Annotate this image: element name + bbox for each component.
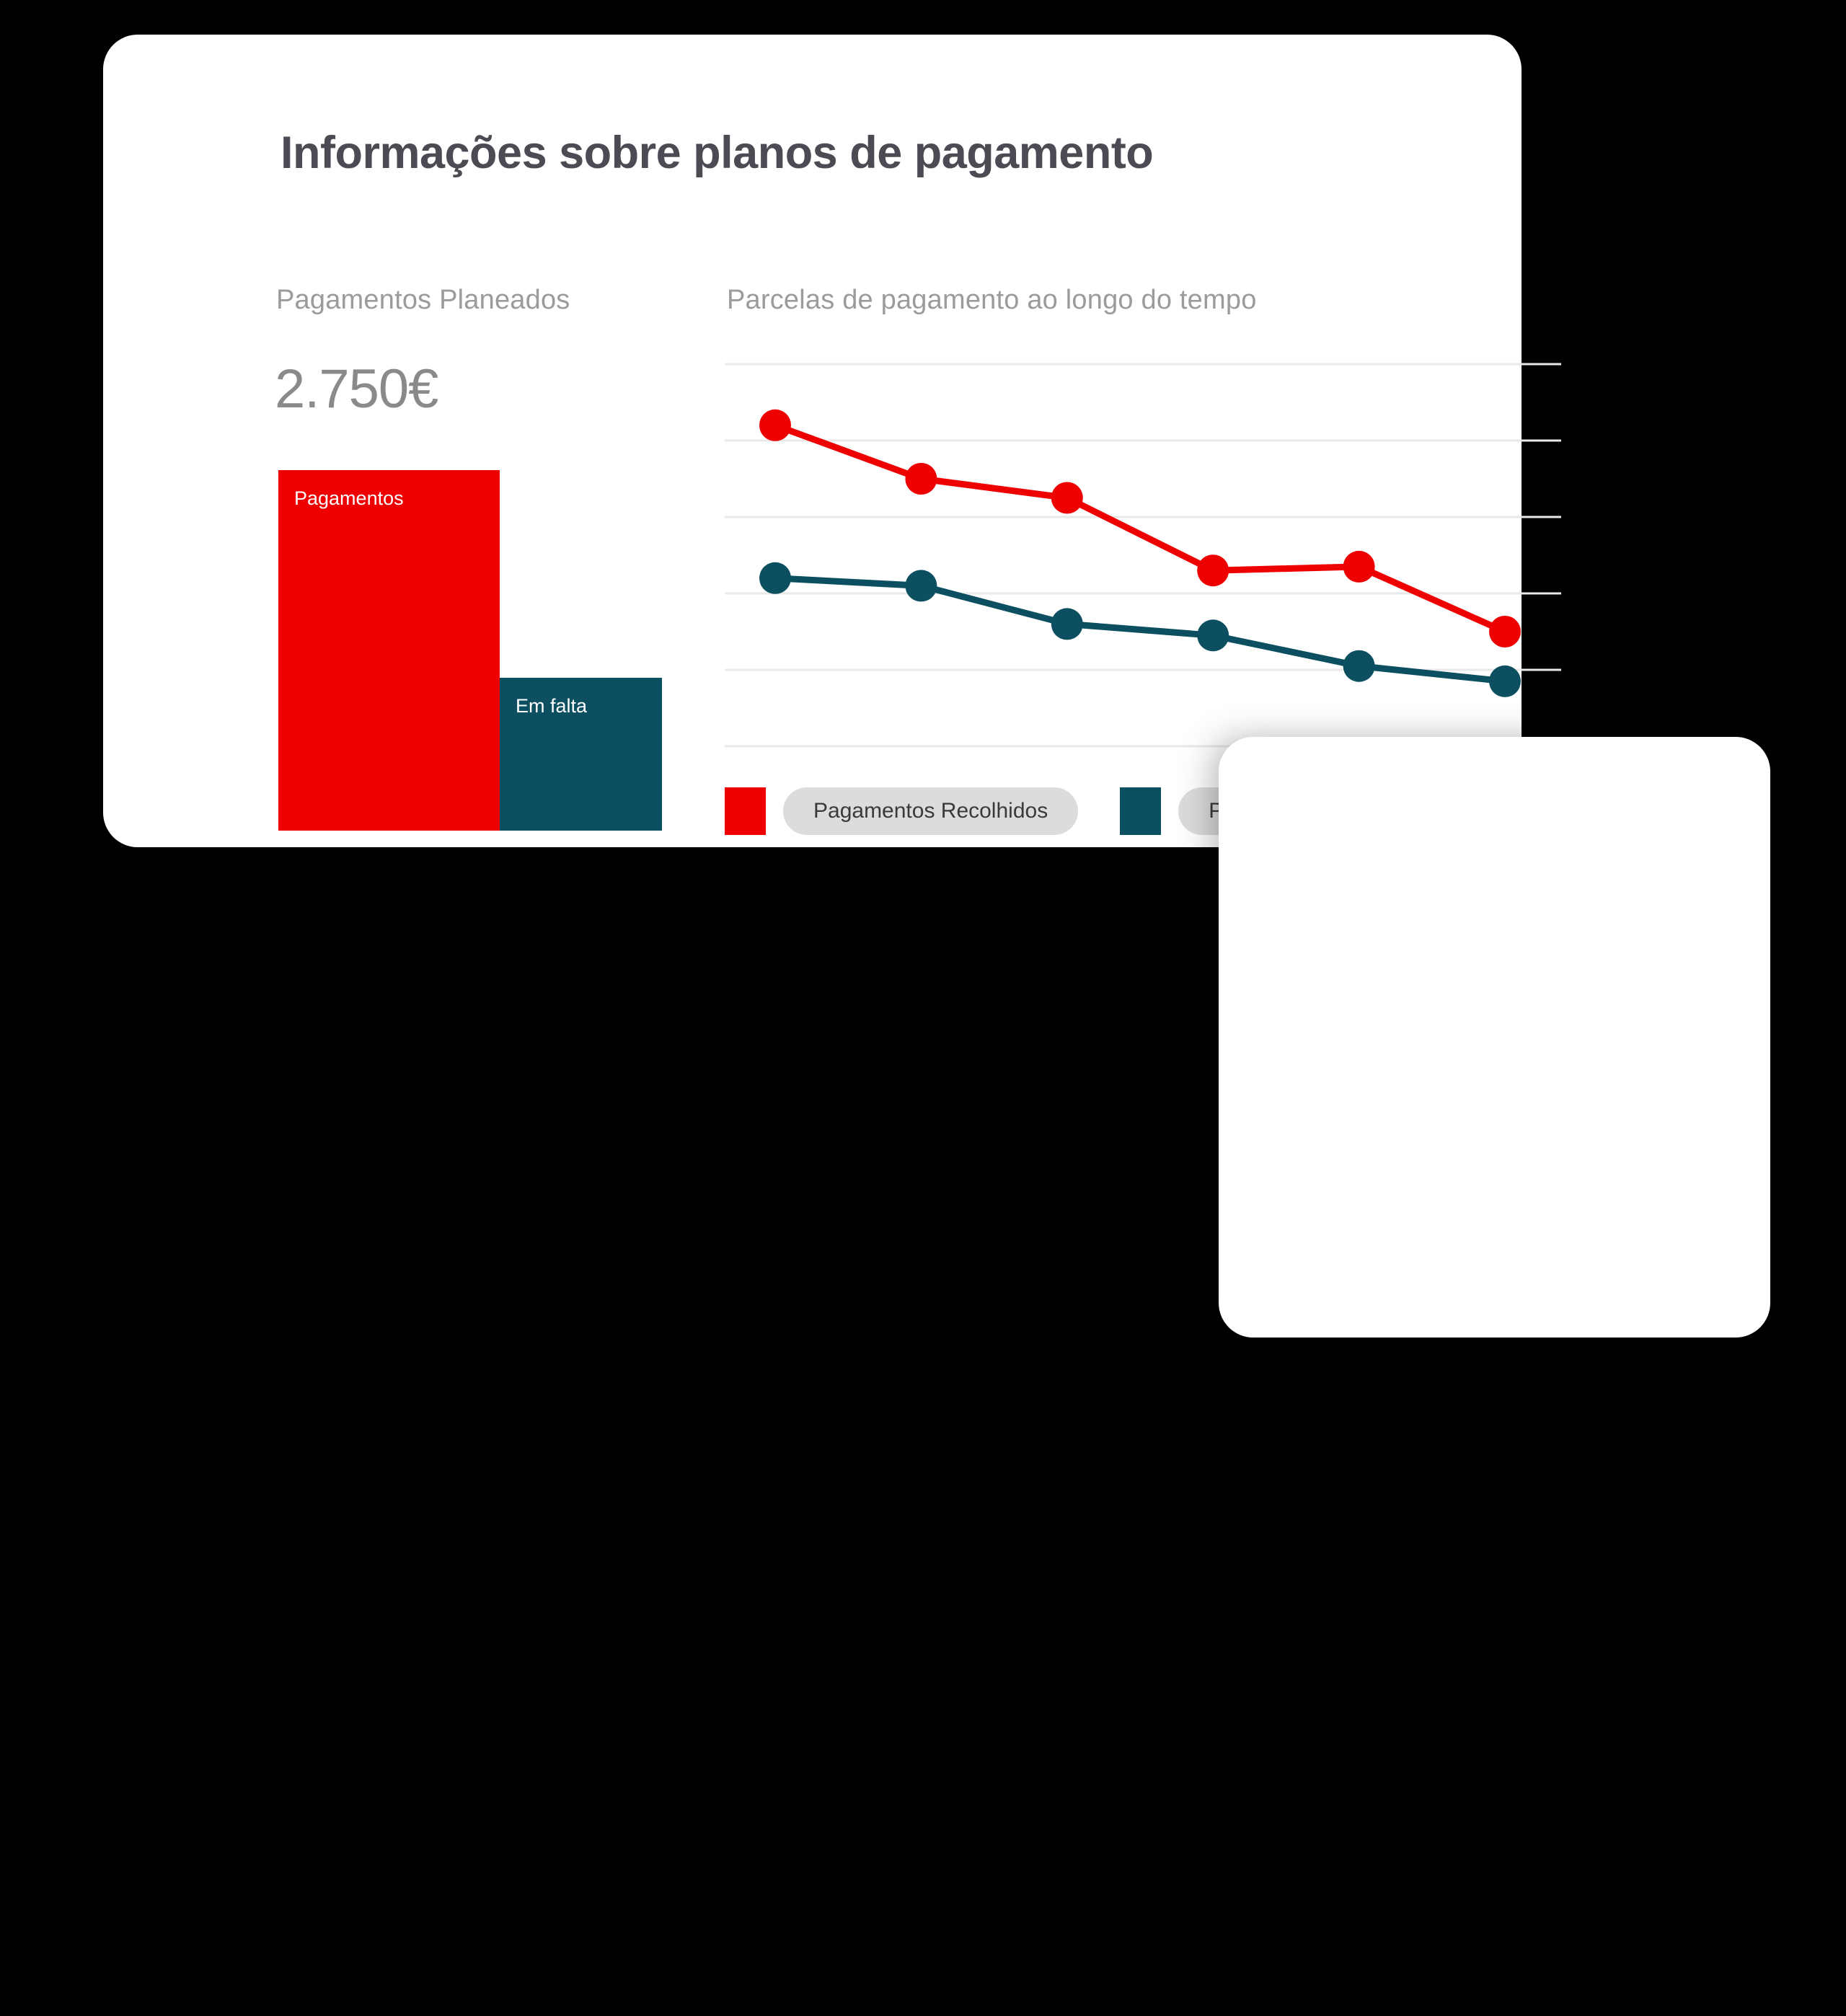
- screen: Informações sobre planos de pagamento Pa…: [0, 0, 1846, 1464]
- legend-swatch-teal-icon: [1120, 787, 1161, 835]
- chart-data-point[interactable]: [905, 463, 937, 495]
- chart-gridlines: [725, 364, 1561, 746]
- processes-info-card: Informação de Processos Completos Em fal…: [1219, 737, 1770, 1338]
- payments-info-card: Informações sobre planos de pagamento Pa…: [103, 35, 1522, 847]
- chart-series-layer: [759, 410, 1521, 697]
- planned-payments-label: Pagamentos Planeados: [276, 285, 570, 316]
- planned-payments-value: 2.750€: [275, 358, 438, 420]
- legend-label-collected: Pagamentos Recolhidos: [783, 787, 1078, 835]
- installments-timeline-label: Parcelas de pagamento ao longo do tempo: [727, 285, 1257, 316]
- chart-data-point[interactable]: [1489, 666, 1521, 697]
- chart-data-point[interactable]: [759, 410, 791, 441]
- bar-payments-missing-label: Em falta: [516, 695, 587, 717]
- chart-data-point[interactable]: [1051, 608, 1083, 640]
- chart-data-point[interactable]: [1343, 650, 1375, 682]
- chart-data-point[interactable]: [1343, 551, 1375, 583]
- legend-swatch-red-icon: [725, 787, 766, 835]
- chart-data-point[interactable]: [1197, 554, 1229, 586]
- bar-payments-collected: Pagamentos: [278, 470, 500, 831]
- installments-line-chart: [725, 345, 1561, 770]
- bar-payments-collected-label: Pagamentos: [294, 487, 404, 510]
- line-chart-svg: [725, 345, 1561, 770]
- chart-data-point[interactable]: [1051, 482, 1083, 514]
- chart-data-point[interactable]: [905, 570, 937, 601]
- page-title: Informações sobre planos de pagamento: [281, 127, 1153, 179]
- chart-data-point[interactable]: [1197, 619, 1229, 651]
- bar-payments-missing: Em falta: [500, 678, 662, 831]
- legend-item-collected[interactable]: Pagamentos Recolhidos: [725, 787, 1078, 835]
- planned-payments-bar-chart: Pagamentos Em falta: [278, 470, 682, 831]
- chart-data-point[interactable]: [1489, 616, 1521, 647]
- chart-line: [775, 425, 1505, 632]
- chart-data-point[interactable]: [759, 562, 791, 594]
